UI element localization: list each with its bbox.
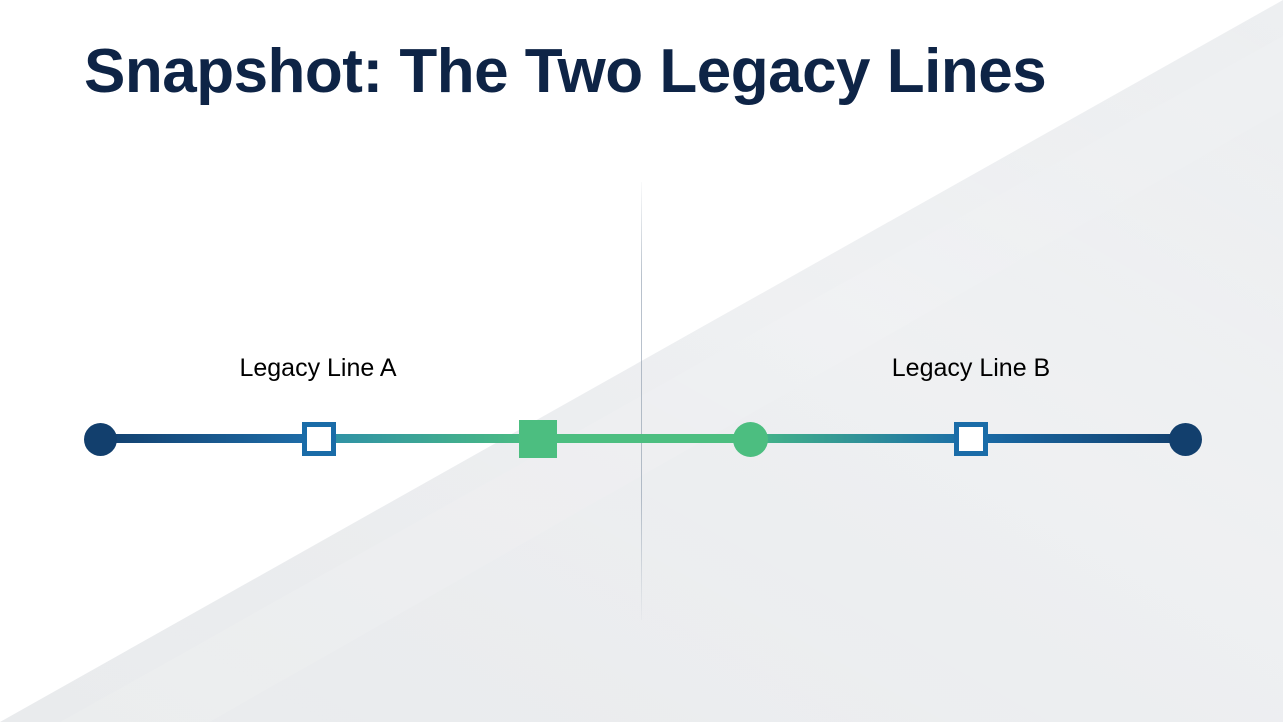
- marker-node-center-square[interactable]: [519, 420, 557, 458]
- segment-green-center: [538, 434, 750, 443]
- label-legacy-line-a: Legacy Line A: [239, 354, 396, 383]
- marker-node-b[interactable]: [954, 422, 988, 456]
- marker-endpoint-right[interactable]: [1169, 423, 1202, 456]
- segment-blue-to-navy-right: [971, 434, 1185, 443]
- label-legacy-line-b: Legacy Line B: [892, 354, 1050, 383]
- segment-blue-to-green-left: [319, 434, 538, 443]
- slide-canvas: Snapshot: The Two Legacy Lines Legacy Li…: [0, 0, 1283, 722]
- marker-node-center-circle[interactable]: [733, 422, 768, 457]
- segment-navy-to-blue-left: [100, 434, 319, 443]
- legacy-lines-diagram: Legacy Line A Legacy Line B: [0, 0, 1283, 722]
- segment-green-to-blue-right: [750, 434, 971, 443]
- marker-endpoint-left[interactable]: [84, 423, 117, 456]
- marker-node-a[interactable]: [302, 422, 336, 456]
